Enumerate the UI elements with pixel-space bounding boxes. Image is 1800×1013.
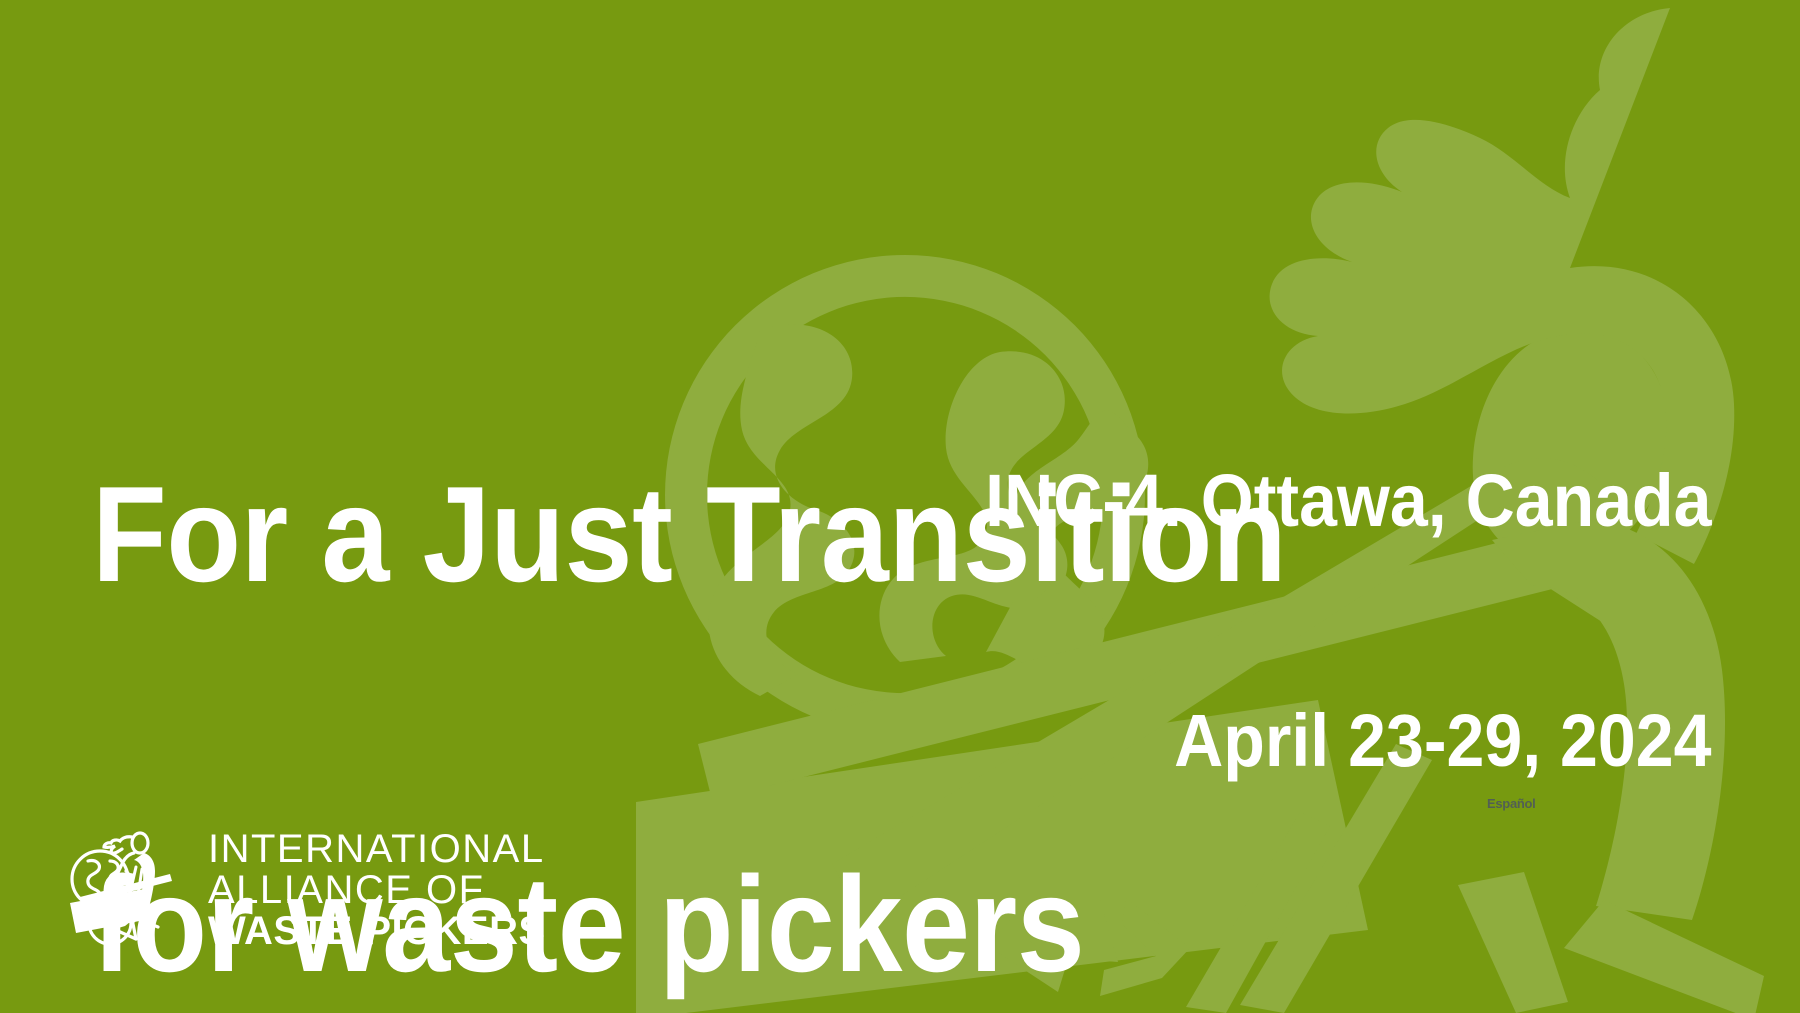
event-location: INC-4. Ottawa, Canada [986, 461, 1712, 541]
waste-picker-cart-globe-logo-icon [58, 827, 186, 955]
event-dates: April 23-29, 2024 [986, 701, 1712, 781]
logo-wordmark: INTERNATIONAL ALLIANCE OF WASTE PICKERS [208, 829, 546, 954]
logo-line-1: INTERNATIONAL [208, 829, 546, 870]
event-info: INC-4. Ottawa, Canada April 23-29, 2024 [986, 301, 1712, 941]
language-label-artifact: Español [1487, 797, 1535, 810]
organization-logo: INTERNATIONAL ALLIANCE OF WASTE PICKERS [58, 827, 546, 955]
logo-line-3: WASTE PICKERS [208, 911, 546, 952]
campaign-banner: For a Just Transition for waste pickers … [0, 0, 1800, 1013]
logo-line-2: ALLIANCE OF [208, 870, 546, 911]
logo-figure-head [132, 833, 148, 853]
logo-figure-legs [132, 919, 158, 939]
